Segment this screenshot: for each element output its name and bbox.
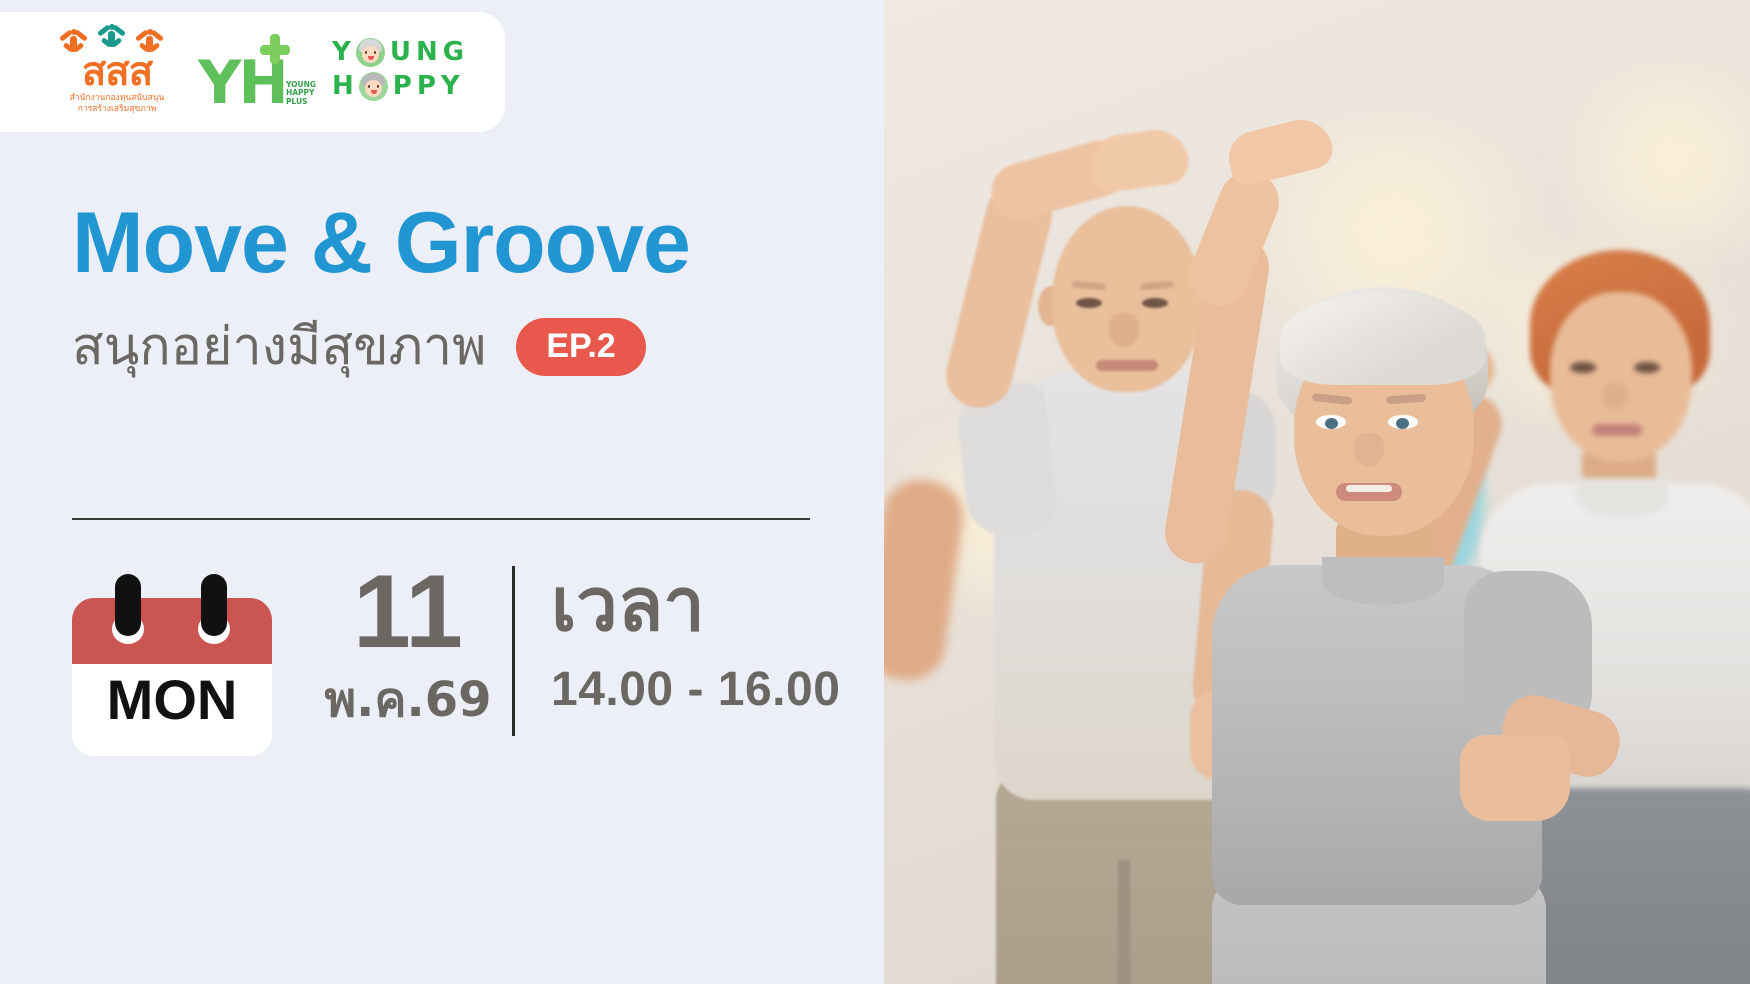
subtitle-row: สนุกอย่างมีสุขภาพ EP.2 (72, 312, 646, 382)
schedule-row: MON 11 พ.ค.69 เวลา 14.00 - 16.00 (72, 548, 840, 756)
time-value: 14.00 - 16.00 (551, 660, 840, 720)
calendar-icon: MON (72, 558, 272, 756)
day-number: 11 (353, 560, 463, 664)
vertical-divider (512, 566, 515, 736)
young-happy-row-young: Y U N G (332, 35, 482, 69)
thaihealth-logo: สสส สำนักงานกองทุนสนับสนุน การสร้างเสริม… (58, 24, 176, 120)
thaihealth-subtitle-line1: สำนักงานกองทุนสนับสนุน (58, 93, 176, 103)
calendar-weekday: MON (72, 670, 272, 730)
yh-tagline-line3: PLUS (286, 97, 308, 106)
young-happy-plus-logo: YH YOUNG HAPPY PLUS (198, 32, 310, 112)
date-block: 11 พ.ค.69 (314, 560, 502, 730)
young-happy-row-happy: H P P Y (332, 69, 482, 103)
elder-man-face-icon (356, 38, 385, 67)
letter-g: G (443, 37, 464, 67)
page-subtitle: สนุกอย่างมีสุขภาพ (72, 312, 486, 382)
letter-p1: P (393, 71, 412, 101)
letter-u: U (390, 37, 411, 67)
calendar-ring-left (115, 574, 141, 636)
plus-icon (260, 34, 290, 64)
young-happy-logo: Y U N G H P P Y (332, 35, 482, 109)
calendar-ring-right (201, 574, 227, 636)
month-year: พ.ค.69 (324, 670, 491, 730)
senior-exercise-photo (884, 0, 1750, 984)
page-title: Move & Groove (72, 195, 690, 291)
thaihealth-wordmark: สสส (58, 52, 176, 92)
time-block: เวลา 14.00 - 16.00 (551, 562, 840, 720)
logo-card: สสส สำนักงานกองทุนสนับสนุน การสร้างเสริม… (0, 12, 505, 132)
left-content-panel: สสส สำนักงานกองทุนสนับสนุน การสร้างเสริม… (0, 0, 884, 984)
letter-y2: Y (441, 71, 460, 101)
letter-n: N (416, 37, 438, 67)
letter-h: H (332, 71, 354, 101)
episode-badge: EP.2 (516, 318, 645, 376)
horizontal-divider (72, 518, 810, 520)
time-label: เวลา (551, 562, 705, 648)
letter-p2: P (417, 71, 436, 101)
elder-woman-face-icon (359, 72, 388, 101)
yh-plus-tagline: YOUNG HAPPY PLUS (286, 81, 316, 107)
thaihealth-figures-icon (61, 24, 173, 54)
letter-y: Y (332, 37, 351, 67)
promo-banner: สสส สำนักงานกองทุนสนับสนุน การสร้างเสริม… (0, 0, 1750, 984)
thaihealth-subtitle-line2: การสร้างเสริมสุขภาพ (58, 104, 176, 114)
person-senior-woman-front (1164, 235, 1634, 984)
